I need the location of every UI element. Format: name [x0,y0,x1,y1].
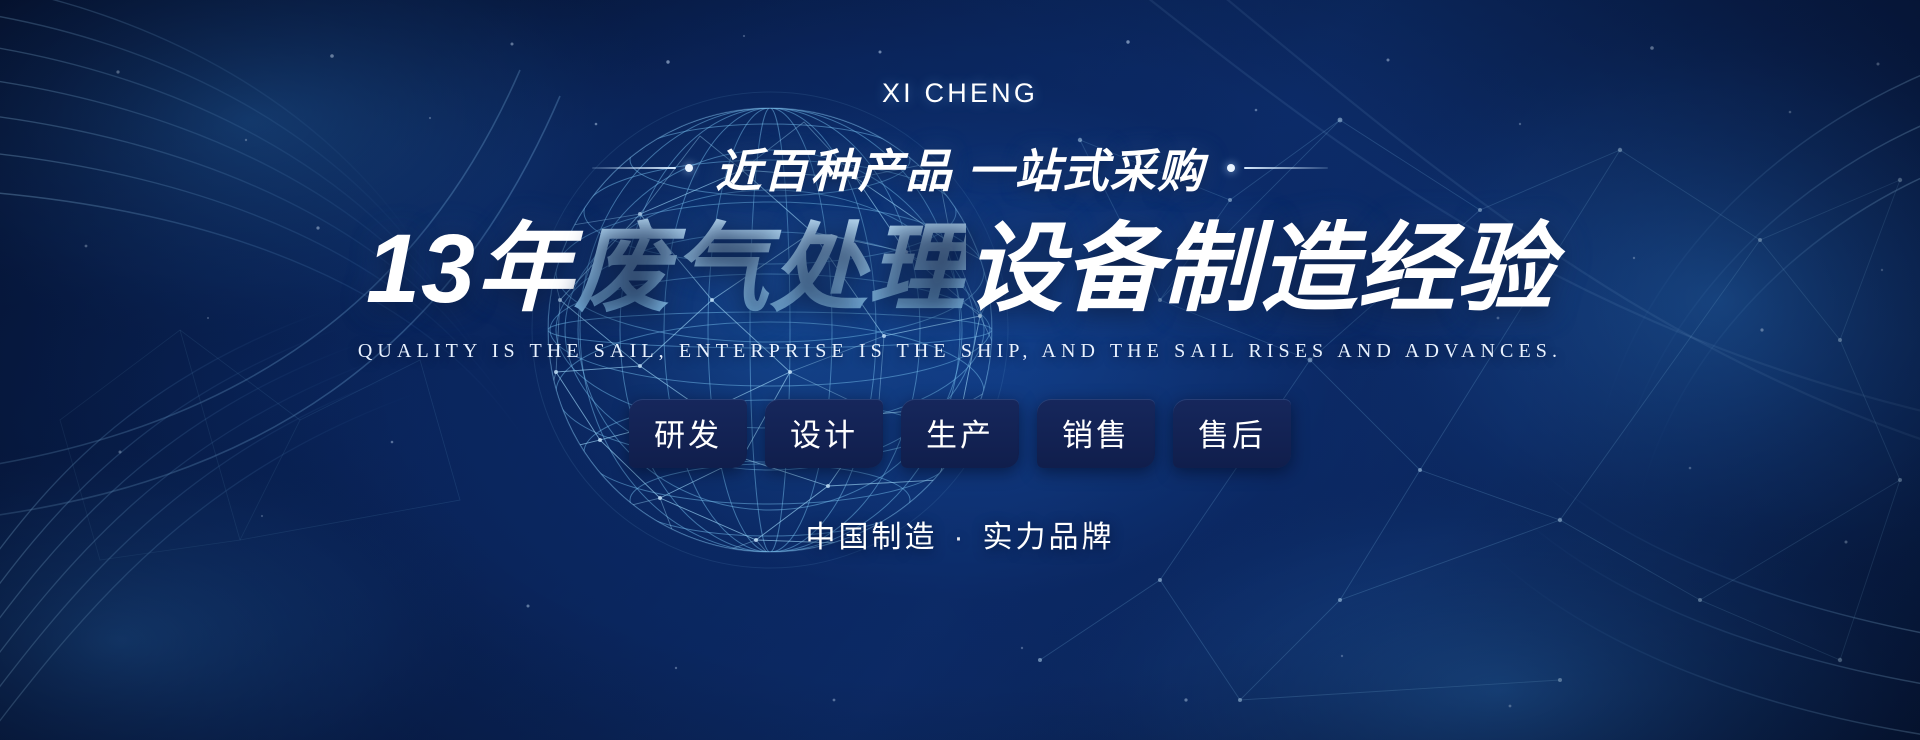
brand-name-en: XI CHENG [882,78,1038,109]
main-headline: 13年废气处理设备制造经验 [366,215,1554,324]
banner-content: XI CHENG 近百种产品 一站式采购 13年废气处理设备制造经验 QUALI… [0,0,1920,740]
subheadline-row: 近百种产品 一站式采购 [592,135,1327,201]
service-badge-list: 研发 设计 生产 销售 售后 [629,399,1291,468]
service-badge[interactable]: 售后 [1173,399,1291,468]
headline-suffix: 设备制造经验 [966,214,1554,323]
rule-line-icon [592,167,676,169]
subheadline-text: 近百种产品 一站式采购 [715,135,1204,201]
footer-slogan: 中国制造·实力品牌 [806,512,1115,556]
service-badge[interactable]: 销售 [1037,399,1155,468]
headline-highlight: 废气处理 [574,214,966,323]
service-badge[interactable]: 设计 [765,399,883,468]
headline-prefix: 13年 [366,214,574,323]
hero-banner: XI CHENG 近百种产品 一站式采购 13年废气处理设备制造经验 QUALI… [0,0,1920,740]
rule-line-icon [1244,167,1328,169]
footer-slogan-left: 中国制造 [806,521,938,554]
footer-slogan-separator: · [938,521,983,554]
footer-slogan-right: 实力品牌 [983,521,1115,554]
tagline-en: QUALITY IS THE SAIL, ENTERPRISE IS THE S… [358,340,1562,363]
rule-left-decoration [592,164,693,172]
service-badge[interactable]: 研发 [629,399,747,468]
rule-right-decoration [1227,164,1328,172]
rule-dot-icon [1227,164,1235,172]
service-badge[interactable]: 生产 [901,399,1019,468]
rule-dot-icon [685,164,693,172]
